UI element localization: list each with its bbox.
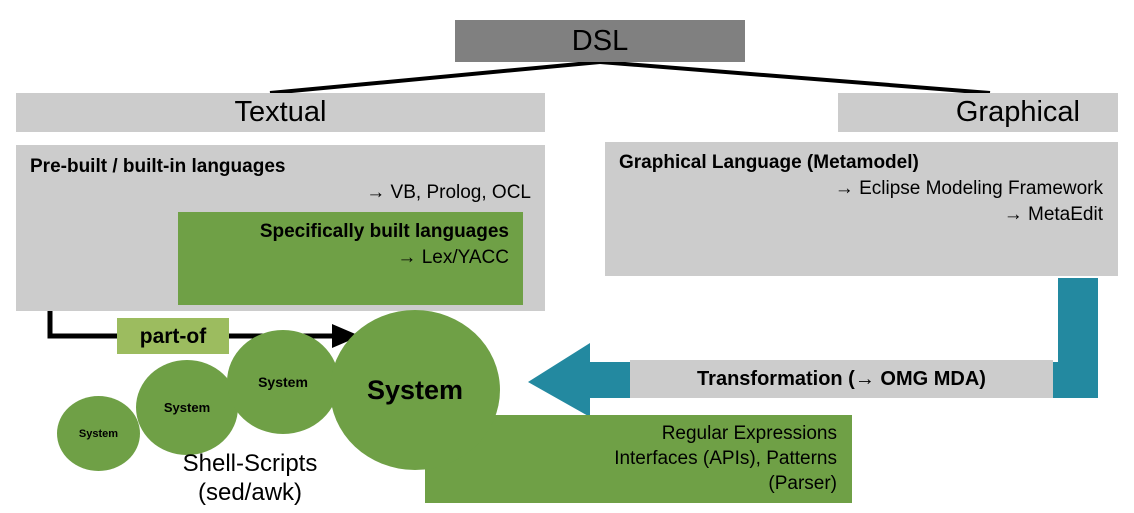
system-circle-1-label: System <box>79 428 118 440</box>
diagram-canvas: DSL Textual Graphical Pre-built / built-… <box>0 0 1134 513</box>
dsl-root-label: DSL <box>572 25 628 57</box>
system-circle-3: System <box>227 330 339 434</box>
implementation-line2: Interfaces (APIs), Patterns <box>425 448 837 470</box>
connector-line-graphical <box>600 62 990 93</box>
shell-scripts-caption-line1: Shell-Scripts <box>130 449 370 478</box>
transformation-box: Transformation (→ OMG MDA) <box>630 360 1053 398</box>
graphical-panel-line2: → Eclipse Modeling Framework <box>605 178 1103 200</box>
part-of-box: part-of <box>117 318 229 354</box>
shell-scripts-caption: Shell-Scripts (sed/awk) <box>130 449 370 507</box>
branch-header-graphical: Graphical <box>838 93 1118 132</box>
specifically-built-line2: → Lex/YACC <box>178 247 509 269</box>
system-circle-2: System <box>136 360 238 455</box>
implementation-line3: (Parser) <box>425 473 837 495</box>
system-circle-1: System <box>57 396 140 471</box>
graphical-panel-line1: Graphical Language (Metamodel) <box>619 152 919 174</box>
system-circle-2-label: System <box>164 400 210 415</box>
connector-line-textual <box>270 62 600 93</box>
dsl-root-box: DSL <box>455 20 745 62</box>
system-circle-3-label: System <box>258 374 308 390</box>
part-of-label: part-of <box>117 325 229 349</box>
graphical-to-transformation-connector <box>1058 278 1098 398</box>
branch-header-textual-label: Textual <box>235 96 327 128</box>
system-circle-4: System <box>330 310 500 470</box>
branch-header-graphical-label: Graphical <box>956 96 1080 128</box>
graphical-panel: Graphical Language (Metamodel) → Eclipse… <box>605 142 1118 276</box>
shell-scripts-caption-line2: (sed/awk) <box>130 478 370 507</box>
branch-header-textual: Textual <box>16 93 545 132</box>
graphical-panel-line3: → MetaEdit <box>605 204 1103 226</box>
textual-panel-line1: Pre-built / built-in languages <box>30 156 285 178</box>
textual-panel-line2: → VB, Prolog, OCL <box>16 182 531 204</box>
system-circle-4-label: System <box>367 375 463 406</box>
specifically-built-line1: Specifically built languages <box>178 221 509 243</box>
transformation-label: Transformation (→ OMG MDA) <box>630 368 1053 391</box>
specifically-built-languages-box: Specifically built languages → Lex/YACC <box>178 212 523 305</box>
